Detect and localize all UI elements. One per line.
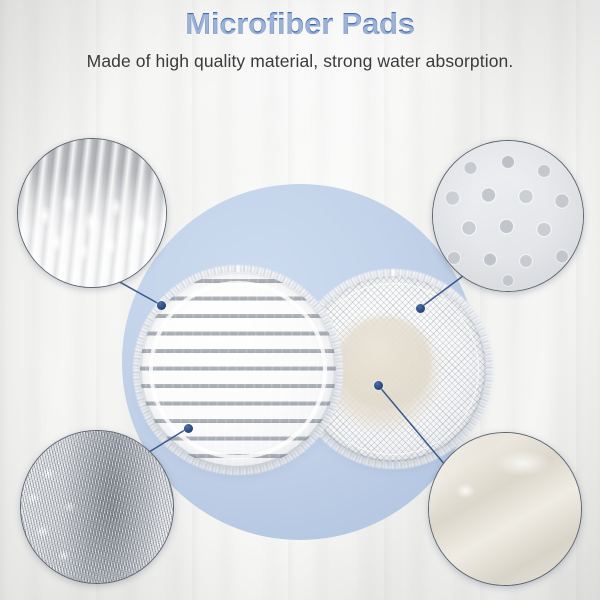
- detail-texture-honeycomb-mesh-cells: [433, 141, 583, 291]
- page-title: Microfiber Pads: [0, 0, 600, 42]
- detail-texture-smooth-beige-backing: [429, 433, 581, 585]
- detail-circle-honeycomb-mesh-cells: [432, 140, 584, 292]
- callout-dot-chenille-fiber-tufts: [157, 301, 166, 310]
- callout-dot-honeycomb-mesh-cells: [416, 304, 425, 313]
- header: Microfiber Pads Made of high quality mat…: [0, 0, 600, 72]
- detail-circle-dense-pile-nap: [20, 430, 174, 584]
- callout-dot-smooth-beige-backing: [374, 381, 383, 390]
- detail-circle-smooth-beige-backing: [428, 432, 582, 586]
- page-subtitle: Made of high quality material, strong wa…: [0, 51, 600, 72]
- detail-texture-chenille-fiber-tufts: [18, 139, 166, 287]
- callout-dot-dense-pile-nap: [184, 424, 193, 433]
- detail-texture-dense-pile-nap: [21, 431, 173, 583]
- product-image-canvas: Microfiber Pads Made of high quality mat…: [0, 0, 600, 600]
- detail-circle-chenille-fiber-tufts: [17, 138, 167, 288]
